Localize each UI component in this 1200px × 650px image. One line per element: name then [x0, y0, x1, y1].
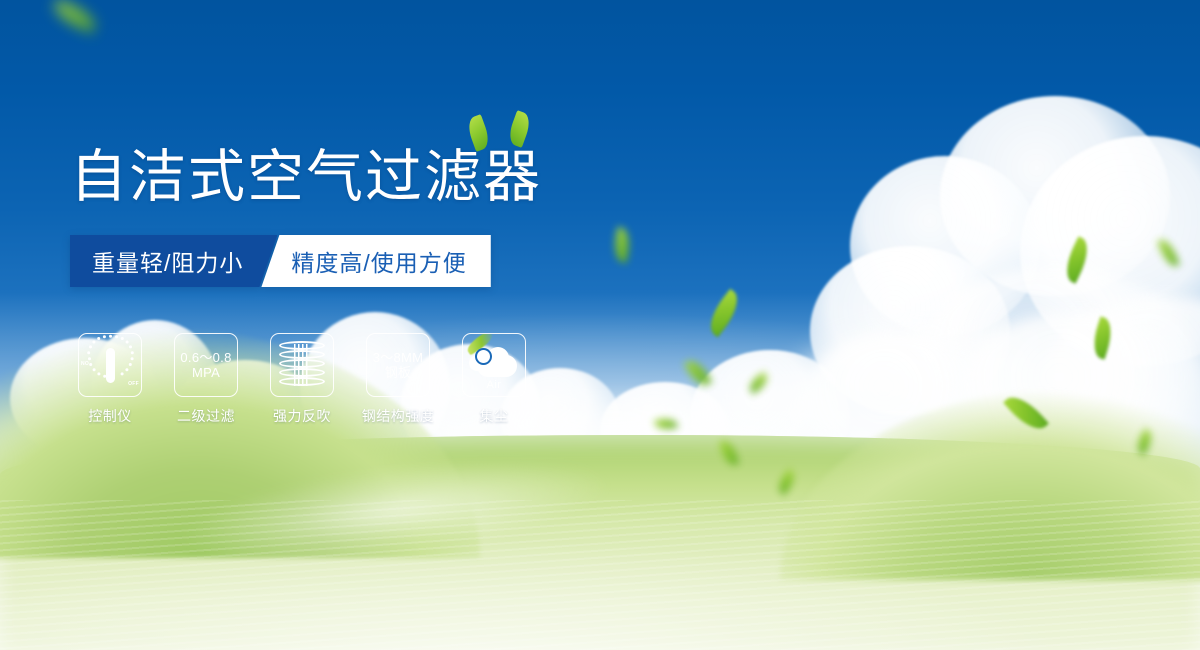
feature-item-controller[interactable]: NO OFF 控制仪: [70, 333, 150, 426]
feature-label: 集尘: [480, 406, 509, 426]
feature-label: 控制仪: [88, 406, 132, 426]
gauge-graphic: NO OFF: [82, 339, 138, 391]
feature-label: 二级过滤: [177, 406, 235, 426]
gauge-on-label: NO: [81, 361, 89, 367]
subtitle-bar: 重量轻/阻力小 精度高/使用方便: [70, 235, 491, 287]
cartridge-graphic: [279, 341, 325, 389]
page-title: 自洁式空气过滤器: [70, 143, 542, 211]
gauge-dial-icon: NO OFF: [78, 333, 142, 397]
grass-sheen: [0, 500, 1200, 650]
feature-item-backblow[interactable]: 强力反吹: [262, 333, 342, 426]
feature-item-steel[interactable]: 3～8MM 钢板 钢结构强度: [358, 333, 438, 426]
feature-item-dust[interactable]: Air 集尘: [454, 333, 534, 426]
air-cloud-icon: Air: [462, 333, 526, 397]
feature-label: 钢结构强度: [362, 406, 435, 426]
product-hero-banner: 自洁式空气过滤器 重量轻/阻力小 精度高/使用方便: [0, 0, 1200, 650]
subtitle-left: 重量轻/阻力小: [70, 235, 277, 287]
air-label: Air: [467, 379, 521, 391]
air-cloud-graphic: Air: [467, 341, 521, 389]
feature-item-pressure[interactable]: 0.6～0.8 MPA 二级过滤: [166, 333, 246, 426]
pressure-value-icon: 0.6～0.8 MPA: [174, 333, 238, 397]
feature-label: 强力反吹: [273, 406, 331, 426]
gauge-off-label: OFF: [128, 381, 139, 387]
feature-list: NO OFF 控制仪 0.6～0.8 MPA 二级过滤: [70, 333, 534, 426]
steel-plate-value-icon: 3～8MM 钢板: [366, 333, 430, 397]
subtitle-right: 精度高/使用方便: [261, 235, 490, 287]
filter-cartridge-icon: [270, 333, 334, 397]
steel-plate-value-text: 3～8MM 钢板: [373, 350, 424, 380]
pressure-value-text: 0.6～0.8 MPA: [180, 350, 231, 380]
